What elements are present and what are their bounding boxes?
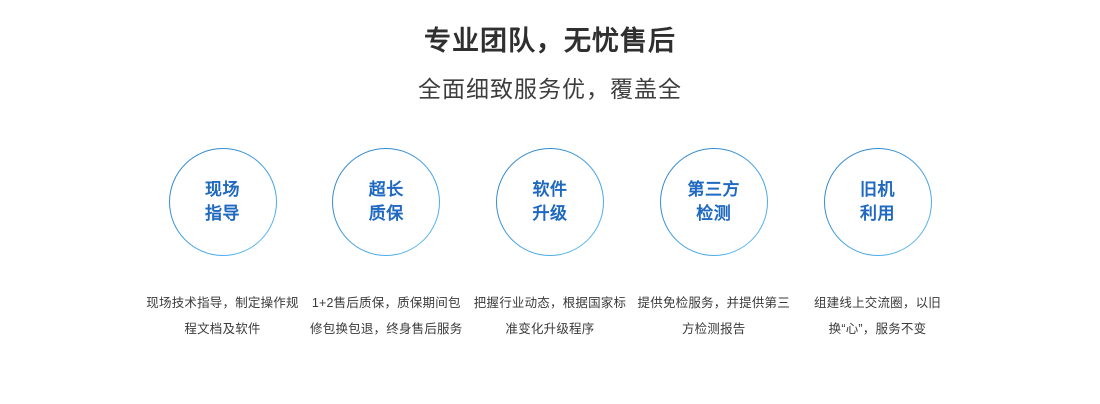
- feature-circle-label: 超长 质保: [369, 178, 404, 226]
- feature-description: 1+2售后质保，质保期间包修包换包退，终身售后服务: [306, 290, 466, 342]
- page-subtitle: 全面细致服务优，覆盖全: [0, 74, 1100, 104]
- feature-circle[interactable]: 现场 指导: [169, 148, 277, 256]
- feature-circle-label: 软件 升级: [533, 178, 568, 226]
- page-title: 专业团队，无忧售后: [0, 24, 1100, 58]
- feature-description: 提供免检服务，并提供第三方检测报告: [634, 290, 794, 342]
- feature-item-onsite-guidance[interactable]: 现场 指导 现场技术指导，制定操作规程文档及软件: [145, 148, 300, 342]
- feature-circle-label: 现场 指导: [205, 178, 240, 226]
- feature-description: 组建线上交流圈，以旧换“心”，服务不变: [798, 290, 958, 342]
- feature-circle[interactable]: 第三方 检测: [660, 148, 768, 256]
- feature-description: 现场技术指导，制定操作规程文档及软件: [143, 290, 303, 342]
- feature-circle-label: 第三方 检测: [688, 178, 741, 226]
- feature-circle[interactable]: 超长 质保: [332, 148, 440, 256]
- feature-description: 把握行业动态，根据国家标准变化升级程序: [470, 290, 630, 342]
- feature-circle[interactable]: 软件 升级: [496, 148, 604, 256]
- feature-item-software-upgrade[interactable]: 软件 升级 把握行业动态，根据国家标准变化升级程序: [473, 148, 628, 342]
- feature-circle[interactable]: 旧机 利用: [824, 148, 932, 256]
- feature-circle-label: 旧机 利用: [860, 178, 895, 226]
- feature-item-old-machine-reuse[interactable]: 旧机 利用 组建线上交流圈，以旧换“心”，服务不变: [800, 148, 955, 342]
- heading-block: 专业团队，无忧售后 全面细致服务优，覆盖全: [0, 0, 1100, 104]
- feature-item-third-party-inspection[interactable]: 第三方 检测 提供免检服务，并提供第三方检测报告: [636, 148, 791, 342]
- service-feature-section: 专业团队，无忧售后 全面细致服务优，覆盖全 现场 指导 现场技术指导，制定操作规…: [0, 0, 1100, 404]
- feature-list: 现场 指导 现场技术指导，制定操作规程文档及软件 超长 质保 1+2售后质保，质…: [145, 148, 955, 342]
- feature-item-extended-warranty[interactable]: 超长 质保 1+2售后质保，质保期间包修包换包退，终身售后服务: [309, 148, 464, 342]
